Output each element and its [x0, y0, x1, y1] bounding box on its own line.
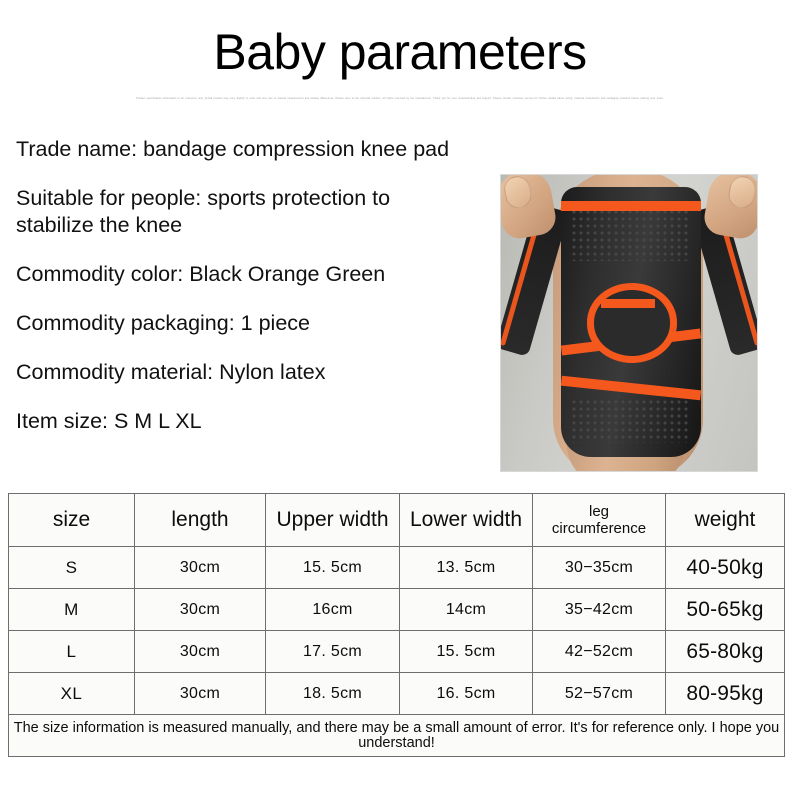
cell-leg-circumference-xl: 52−57cm	[533, 673, 666, 715]
knee-brace-sleeve	[561, 187, 701, 457]
header-upper-width: Upper width	[266, 494, 400, 547]
table-row: S 30cm 15. 5cm 13. 5cm 30−35cm 40-50kg	[9, 547, 785, 589]
header-size: size	[9, 494, 135, 547]
cell-weight-s: 40-50kg	[666, 547, 785, 589]
table-note-row: The size information is measured manuall…	[9, 715, 785, 757]
thumb-left	[502, 175, 533, 210]
table-row: XL 30cm 18. 5cm 16. 5cm 52−57cm 80-95kg	[9, 673, 785, 715]
patella-bar	[601, 299, 655, 308]
size-chart-table: size length Upper width Lower width leg …	[8, 493, 785, 757]
cell-size-l: L	[9, 631, 135, 673]
cell-upper-width-s: 15. 5cm	[266, 547, 400, 589]
table-row: L 30cm 17. 5cm 15. 5cm 42−52cm 65-80kg	[9, 631, 785, 673]
cell-weight-xl: 80-95kg	[666, 673, 785, 715]
header-weight: weight	[666, 494, 785, 547]
spec-item-commodity-color: Commodity color: Black Orange Green	[16, 261, 486, 288]
cell-leg-circumference-m: 35−42cm	[533, 589, 666, 631]
cell-leg-circumference-s: 30−35cm	[533, 547, 666, 589]
patella-ring	[587, 283, 677, 363]
cell-lower-width-s: 13. 5cm	[400, 547, 533, 589]
spec-item-trade-name: Trade name: bandage compression knee pad	[16, 136, 486, 163]
cell-leg-circumference-l: 42−52cm	[533, 631, 666, 673]
mesh-panel-bottom	[571, 399, 691, 443]
mesh-panel-top	[571, 209, 691, 261]
fine-print-text: Product specification information is for…	[30, 97, 770, 123]
page-title: Baby parameters	[0, 22, 800, 82]
cell-size-xl: XL	[9, 673, 135, 715]
cell-upper-width-xl: 18. 5cm	[266, 673, 400, 715]
cell-weight-l: 65-80kg	[666, 631, 785, 673]
cell-weight-m: 50-65kg	[666, 589, 785, 631]
size-note: The size information is measured manuall…	[9, 715, 785, 757]
cell-size-m: M	[9, 589, 135, 631]
spec-item-commodity-material: Commodity material: Nylon latex	[16, 359, 486, 386]
orange-band-top	[561, 201, 701, 211]
product-photo-image	[501, 175, 757, 471]
header-leg-circumference: leg circumference	[533, 494, 666, 547]
thumb-right	[727, 175, 757, 210]
cell-upper-width-l: 17. 5cm	[266, 631, 400, 673]
cell-length-xl: 30cm	[135, 673, 266, 715]
cell-size-s: S	[9, 547, 135, 589]
product-photo	[500, 174, 758, 472]
product-parameters-page: Baby parameters Product specification in…	[0, 0, 800, 800]
cell-upper-width-m: 16cm	[266, 589, 400, 631]
header-length: length	[135, 494, 266, 547]
table-header-row: size length Upper width Lower width leg …	[9, 494, 785, 547]
cell-length-m: 30cm	[135, 589, 266, 631]
cell-lower-width-xl: 16. 5cm	[400, 673, 533, 715]
cell-length-s: 30cm	[135, 547, 266, 589]
orange-band-low	[561, 376, 701, 401]
cell-lower-width-l: 15. 5cm	[400, 631, 533, 673]
cell-lower-width-m: 14cm	[400, 589, 533, 631]
spec-list: Trade name: bandage compression knee pad…	[16, 136, 486, 435]
spec-item-commodity-packaging: Commodity packaging: 1 piece	[16, 310, 486, 337]
cell-length-l: 30cm	[135, 631, 266, 673]
spec-item-item-size: Item size: S M L XL	[16, 408, 486, 435]
header-lower-width: Lower width	[400, 494, 533, 547]
spec-item-suitable-for-people: Suitable for people: sports protection t…	[16, 185, 486, 239]
table-row: M 30cm 16cm 14cm 35−42cm 50-65kg	[9, 589, 785, 631]
